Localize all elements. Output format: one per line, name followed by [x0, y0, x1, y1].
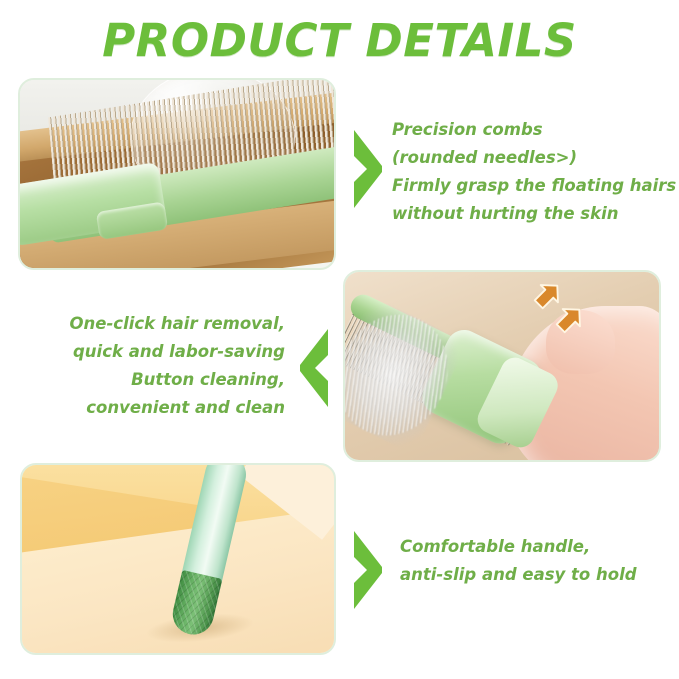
feature-line: without hurting the skin: [392, 200, 676, 228]
feature-text-one-click-hair-removal: One-click hair removal, quick and labor-…: [0, 310, 285, 422]
feature-line: Firmly grasp the floating hairs: [392, 172, 676, 200]
chevron-right-icon: [352, 527, 386, 611]
chevron-right-icon: [352, 126, 386, 210]
comb-teeth-photo: [18, 78, 336, 270]
handle-grip-photo-scene: [22, 465, 334, 653]
feature-text-precision-combs: Precision combs (rounded needles>) Firml…: [392, 116, 676, 228]
hair-removal-photo-scene: [345, 272, 659, 460]
feature-line: quick and labor-saving: [0, 338, 285, 366]
page-title: PRODUCT DETAILS: [0, 14, 679, 67]
feature-line: Precision combs: [392, 116, 676, 144]
handle-grip-photo: [20, 463, 336, 655]
feature-line: convenient and clean: [0, 394, 285, 422]
chevron-left-icon: [296, 325, 330, 409]
feature-text-comfortable-handle: Comfortable handle, anti-slip and easy t…: [400, 533, 637, 589]
feature-line: Button cleaning,: [0, 366, 285, 394]
feature-line: Comfortable handle,: [400, 533, 637, 561]
feature-line: anti-slip and easy to hold: [400, 561, 637, 589]
comb-teeth-photo-scene: [20, 80, 334, 268]
hair-removal-photo: [343, 270, 661, 462]
feature-line: One-click hair removal,: [0, 310, 285, 338]
feature-line: (rounded needles>): [392, 144, 676, 172]
